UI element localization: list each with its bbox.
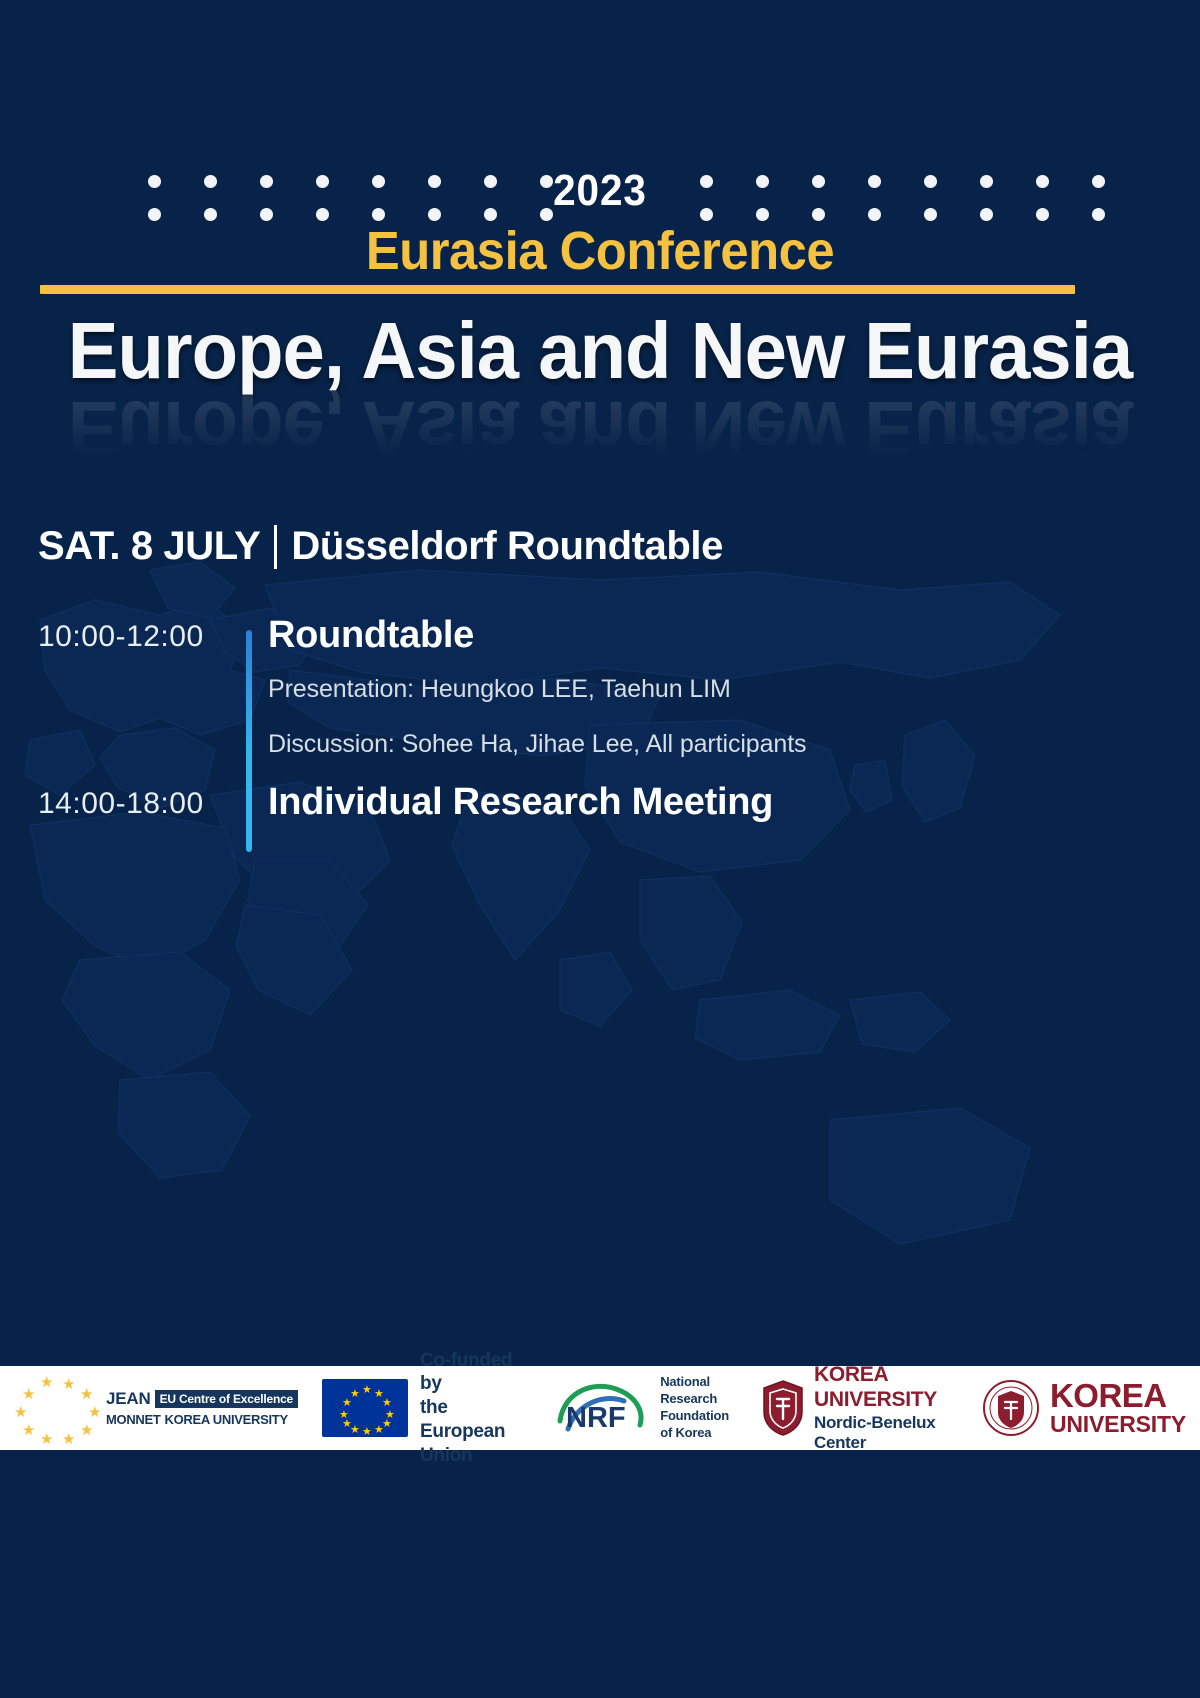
- schedule-details: Presentation: Heungkoo LEE, Taehun LIM D…: [268, 675, 1038, 759]
- eu-flag-icon: ★ ★ ★ ★ ★ ★ ★ ★ ★ ★ ★ ★: [322, 1379, 408, 1437]
- logo-korea-university: KOREA UNIVERSITY: [958, 1366, 1200, 1450]
- co-funded-line1: Co-funded by: [420, 1349, 522, 1397]
- session-location: Düsseldorf Roundtable: [291, 524, 723, 569]
- schedule-row: 14:00-18:00 Individual Research Meeting: [38, 781, 1038, 824]
- logo-ku-nordic-benelux: KOREA UNIVERSITY Nordic-Benelux Center: [739, 1366, 958, 1450]
- svg-text:NRF: NRF: [566, 1402, 626, 1434]
- session-date: SAT. 8 JULY: [38, 524, 274, 569]
- brand-header: 2023 Eurasia Conference: [0, 150, 1200, 300]
- session-header: SAT. 8 JULY Düsseldorf Roundtable: [38, 524, 723, 569]
- ku-nordic-line1: KOREA UNIVERSITY: [814, 1363, 948, 1413]
- korea-university-seal-icon: [982, 1379, 1040, 1437]
- jean-monnet-line2: MONNET: [106, 1412, 161, 1427]
- jean-monnet-line1: JEAN: [106, 1389, 151, 1409]
- korea-university-line1: KOREA: [1050, 1379, 1186, 1413]
- korea-university-line2: UNIVERSITY: [1050, 1413, 1186, 1436]
- logo-nrf: NRF National Research Foundation of Kore…: [532, 1366, 739, 1450]
- schedule-title: Individual Research Meeting: [268, 781, 1038, 824]
- schedule-time: 10:00-12:00: [38, 614, 246, 785]
- logo-jean-monnet: ★ ★ ★ ★ ★ ★ ★ ★ ★ ★ JEAN EU Centre of Ex…: [0, 1366, 304, 1450]
- logo-co-funded-eu: ★ ★ ★ ★ ★ ★ ★ ★ ★ ★ ★ ★ Co-funded by the…: [304, 1366, 532, 1450]
- schedule-time: 14:00-18:00: [38, 781, 246, 824]
- schedule-detail-discussion: Discussion: Sohee Ha, Jihae Lee, All par…: [268, 730, 1038, 759]
- session-header-separator: [274, 525, 277, 569]
- conference-name: Eurasia Conference: [36, 220, 1164, 282]
- schedule-title: Roundtable: [268, 614, 1038, 657]
- nrf-line2: Foundation of Korea: [660, 1408, 729, 1442]
- co-funded-line2: the European Union: [420, 1396, 522, 1467]
- page-title: Europe, Asia and New Eurasia: [30, 305, 1170, 397]
- nrf-mark-icon: NRF: [554, 1377, 650, 1439]
- jean-monnet-badge: EU Centre of Excellence: [155, 1390, 298, 1408]
- gold-divider: [40, 285, 1075, 294]
- schedule-detail-presentation: Presentation: Heungkoo LEE, Taehun LIM: [268, 675, 1038, 704]
- schedule-row: 10:00-12:00 Roundtable Presentation: Heu…: [38, 614, 1038, 785]
- sponsor-logo-bar: ★ ★ ★ ★ ★ ★ ★ ★ ★ ★ JEAN EU Centre of Ex…: [0, 1366, 1200, 1450]
- korea-university-crest-icon: [761, 1379, 805, 1437]
- eu-stars-icon: ★ ★ ★ ★ ★ ★ ★ ★ ★ ★: [12, 1373, 100, 1443]
- conference-poster: 2023 Eurasia Conference Europe, Asia and…: [0, 0, 1200, 1698]
- conference-year: 2023: [48, 166, 1152, 216]
- jean-monnet-line3: KOREA UNIVERSITY: [165, 1412, 288, 1427]
- ku-nordic-line2: Nordic-Benelux Center: [814, 1413, 948, 1453]
- schedule: 10:00-12:00 Roundtable Presentation: Heu…: [38, 614, 1038, 824]
- nrf-line1: National Research: [660, 1374, 729, 1408]
